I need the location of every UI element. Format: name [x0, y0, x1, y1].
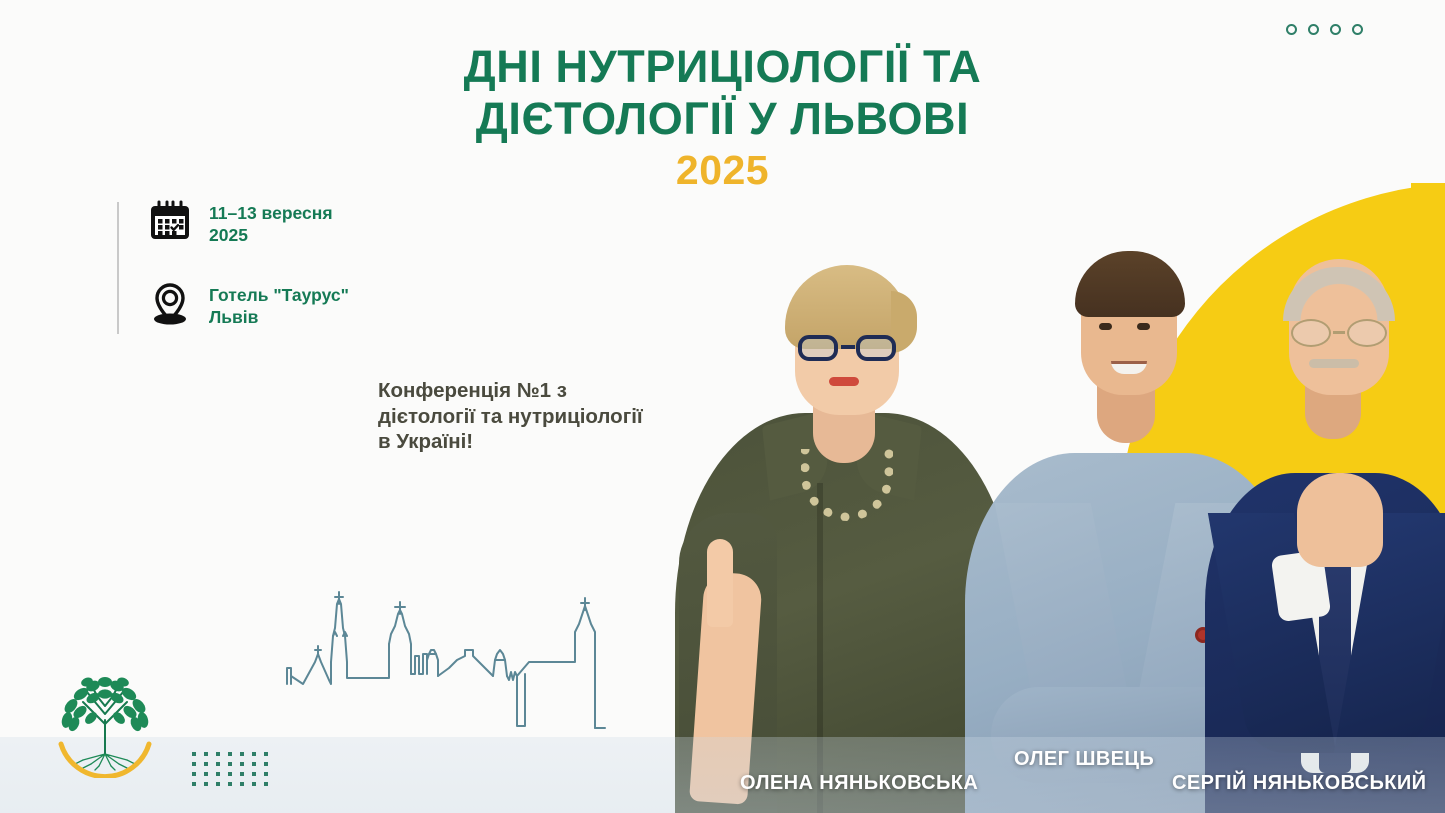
eyeglasses-icon [1291, 319, 1387, 347]
subtitle-line-1: Конференція №1 з [378, 378, 643, 404]
speaker-name-serhii: СЕРГІЙ НЯНЬКОВСЬКИЙ [1172, 772, 1426, 795]
ring-dot-icon [1286, 24, 1297, 35]
speaker-name-oleh: ОЛЕГ ШВЕЦЬ [1014, 748, 1154, 771]
ring-dot-icon [1352, 24, 1363, 35]
subtitle: Конференція №1 з дієтології та нутриціол… [378, 378, 643, 455]
info-location-line-1: Готель "Таурус" [209, 285, 349, 307]
info-date-text: 11–13 вересня 2025 [209, 198, 333, 247]
info-row-location: Готель "Таурус" Львів [147, 280, 349, 329]
tree-logo [47, 662, 163, 778]
map-pin-icon [147, 280, 193, 326]
info-date-line-1: 11–13 вересня [209, 203, 333, 225]
speaker-photo-serhii [1205, 223, 1445, 813]
ring-dot-icon [1308, 24, 1319, 35]
ring-dots-decoration [1286, 24, 1363, 35]
page-title: ДНІ НУТРИЦІОЛОГІЇ ТА ДІЄТОЛОГІЇ У ЛЬВОВІ… [0, 44, 1445, 192]
title-year: 2025 [0, 150, 1445, 192]
eyeglasses-icon [797, 335, 897, 361]
title-line-2: ДІЄТОЛОГІЇ У ЛЬВОВІ [0, 96, 1445, 142]
info-row-date: 11–13 вересня 2025 [147, 198, 349, 247]
poster-canvas: ДНІ НУТРИЦІОЛОГІЇ ТА ДІЄТОЛОГІЇ У ЛЬВОВІ… [0, 0, 1445, 813]
subtitle-line-3: в Україні! [378, 429, 643, 455]
ring-dot-icon [1330, 24, 1341, 35]
event-info-block: 11–13 вересня 2025 Готель "Таурус" Львів [117, 198, 349, 329]
info-date-line-2: 2025 [209, 225, 333, 247]
speaker-name-olena: ОЛЕНА НЯНЬКОВСЬКА [740, 772, 978, 795]
info-location-line-2: Львів [209, 307, 349, 329]
calendar-icon [147, 198, 193, 244]
info-location-text: Готель "Таурус" Львів [209, 280, 349, 329]
dot-grid-decoration [192, 752, 276, 792]
title-line-1: ДНІ НУТРИЦІОЛОГІЇ ТА [0, 44, 1445, 90]
subtitle-line-2: дієтології та нутриціології [378, 404, 643, 430]
